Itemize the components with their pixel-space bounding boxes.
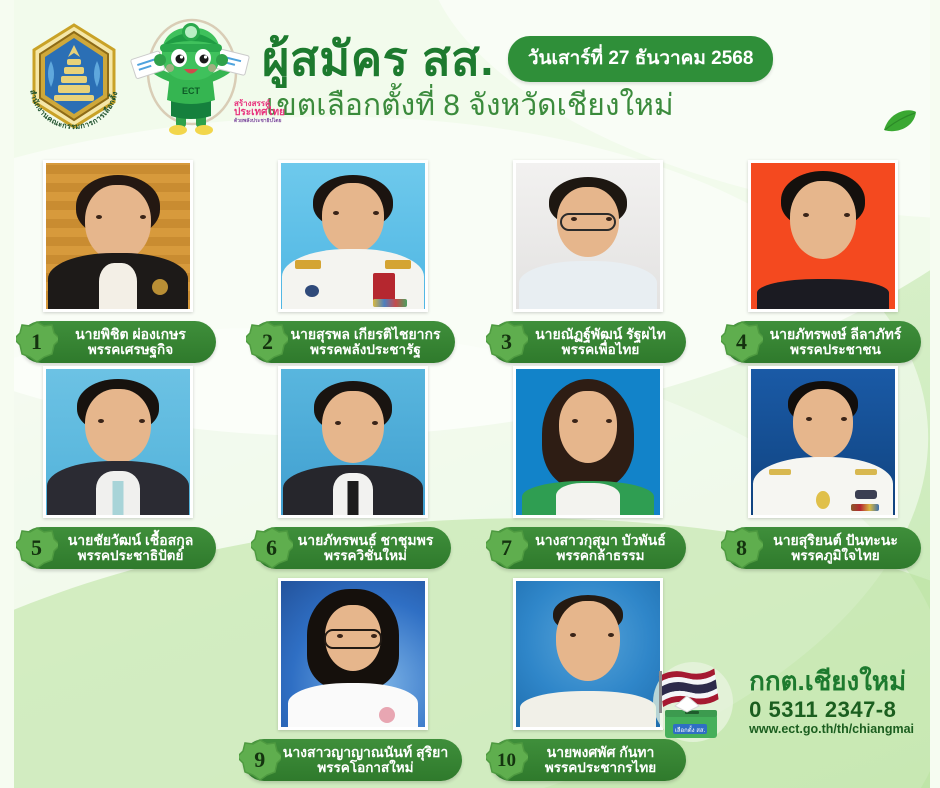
- candidate-photo: [751, 369, 895, 515]
- page-title: ผู้สมัคร สส.: [262, 33, 494, 85]
- candidate-name-pill[interactable]: 10 นายพงศพัศ กันทา พรรคประชากรไทย: [490, 739, 686, 781]
- candidate-party: พรรควิชั่นใหม่: [295, 548, 437, 563]
- candidate-name: นายภัทรพงษ์ ลีลาภัทร์: [765, 327, 907, 343]
- candidate-name: นายภัทรพนธ์ ชาชุมพร: [295, 533, 437, 549]
- candidate-party: พรรคประชากรไทย: [530, 760, 672, 775]
- candidate-number: 10: [497, 751, 516, 770]
- candidate-number: 7: [501, 537, 512, 559]
- candidate-name-lines: นางสาวกุสุมา บัวพันธ์ พรรคกล้าธรรม: [530, 533, 672, 564]
- candidate-party: พรรคกล้าธรรม: [530, 548, 672, 563]
- slogan-line-3: ด้วยพลังประชาธิปไตย: [234, 119, 306, 124]
- ect-mascot-icon: ECT: [126, 12, 254, 140]
- candidate-card[interactable]: 4 นายภัทรพงษ์ ลีลาภัทร์ พรรคประชาชน: [705, 160, 940, 363]
- candidate-number: 5: [31, 537, 42, 559]
- candidate-photo: [46, 369, 190, 515]
- candidate-number-badge: 9: [239, 739, 281, 781]
- candidate-name-pill[interactable]: 3 นายณัฏฐ์พัฒน์ รัฐผไท พรรคเพื่อไทย: [490, 321, 686, 363]
- candidate-number: 1: [31, 331, 42, 353]
- candidate-name: นางสาวญาญาณนันท์ สุริยา: [283, 745, 449, 761]
- candidate-photo: [516, 369, 660, 515]
- candidate-name-pill[interactable]: 5 นายชัยวัฒน์ เชื้อสกุล พรรคประชาธิปัตย์: [20, 527, 216, 569]
- candidate-number-badge: 7: [486, 527, 528, 569]
- candidate-name-lines: นายสุรพล เกียรติไชยากร พรรคพลังประชารัฐ: [290, 327, 440, 358]
- candidate-name-lines: นายชัยวัฒน์ เชื้อสกุล พรรคประชาธิปัตย์: [60, 533, 202, 564]
- candidate-photo-frame: [513, 366, 663, 518]
- candidate-photo-frame: [278, 366, 428, 518]
- leaf-icon: [882, 108, 918, 134]
- ect-emblem-icon: สำนักงานคณะกรรมการการเลือกตั้ง: [18, 17, 130, 135]
- candidate-number: 2: [262, 331, 273, 353]
- candidate-name-lines: นายพิชิต ผ่องเกษร พรรคเศรษฐกิจ: [60, 327, 202, 358]
- candidate-photo-frame: [513, 578, 663, 730]
- mascot-slogan: สร้างสรรค์ ประเทศไทย ด้วยพลังประชาธิปไตย: [234, 100, 306, 124]
- candidate-number-badge: 6: [251, 527, 293, 569]
- candidate-photo-frame: [748, 160, 898, 312]
- candidate-name-pill[interactable]: 4 นายภัทรพงษ์ ลีลาภัทร์ พรรคประชาชน: [725, 321, 921, 363]
- website-url[interactable]: www.ect.go.th/th/chiangmai: [749, 722, 914, 736]
- candidate-photo: [281, 369, 425, 515]
- candidate-party: พรรคประชาธิปัตย์: [60, 548, 202, 563]
- candidate-number-badge: 1: [16, 321, 58, 363]
- candidate-card[interactable]: 9 นางสาวญาญาณนันท์ สุริยา พรรคโอกาสใหม่: [235, 578, 470, 781]
- candidate-party: พรรคโอกาสใหม่: [283, 760, 449, 775]
- candidate-name-lines: นายพงศพัศ กันทา พรรคประชากรไทย: [530, 745, 672, 776]
- candidate-party: พรรคเพื่อไทย: [530, 342, 672, 357]
- organization-name: กกต.เชียงใหม่: [749, 667, 914, 697]
- candidate-card[interactable]: 1 นายพิชิต ผ่องเกษร พรรคเศรษฐกิจ: [0, 160, 235, 363]
- candidate-name-lines: นายภัทรพงษ์ ลีลาภัทร์ พรรคประชาชน: [765, 327, 907, 358]
- candidate-name: นายพิชิต ผ่องเกษร: [60, 327, 202, 343]
- candidate-card[interactable]: 6 นายภัทรพนธ์ ชาชุมพร พรรควิชั่นใหม่: [235, 366, 470, 569]
- candidate-number: 3: [501, 331, 512, 353]
- candidate-card[interactable]: 2 นายสุรพล เกียรติไชยากร พรรคพลังประชารั…: [235, 160, 470, 363]
- title-block: ผู้สมัคร สส. วันเสาร์ที่ 27 ธันวาคม 2568…: [262, 29, 773, 123]
- candidate-number-badge: 3: [486, 321, 528, 363]
- candidate-name-pill[interactable]: 7 นางสาวกุสุมา บัวพันธ์ พรรคกล้าธรรม: [490, 527, 686, 569]
- candidate-name: นายพงศพัศ กันทา: [530, 745, 672, 761]
- candidate-row-2: 5 นายชัยวัฒน์ เชื้อสกุล พรรคประชาธิปัตย์: [0, 366, 940, 569]
- candidate-card[interactable]: 5 นายชัยวัฒน์ เชื้อสกุล พรรคประชาธิปัตย์: [0, 366, 235, 569]
- candidate-number-badge: 10: [486, 739, 528, 781]
- candidate-row-1: 1 นายพิชิต ผ่องเกษร พรรคเศรษฐกิจ: [0, 160, 940, 363]
- candidate-photo-frame: [43, 366, 193, 518]
- thai-flag-ballot-box-icon: เลือกตั้ง สส.: [651, 660, 735, 744]
- candidate-number: 4: [736, 331, 747, 353]
- candidate-card[interactable]: 3 นายณัฏฐ์พัฒน์ รัฐผไท พรรคเพื่อไทย: [470, 160, 705, 363]
- candidate-number-badge: 8: [721, 527, 763, 569]
- candidate-party: พรรคพลังประชารัฐ: [290, 342, 440, 357]
- candidate-photo-frame: [278, 160, 428, 312]
- election-candidate-poster: สำนักงานคณะกรรมการการเลือกตั้ง ECT: [0, 0, 940, 788]
- candidate-name: นายสุริยนต์ ปันทะนะ: [765, 533, 907, 549]
- candidate-number-badge: 4: [721, 321, 763, 363]
- phone-number: 0 5311 2347-8: [749, 697, 914, 722]
- candidate-photo: [516, 163, 660, 309]
- candidate-name-pill[interactable]: 9 นางสาวญาญาณนันท์ สุริยา พรรคโอกาสใหม่: [243, 739, 463, 781]
- election-date-badge: วันเสาร์ที่ 27 ธันวาคม 2568: [508, 36, 774, 82]
- candidate-name: นายสุรพล เกียรติไชยากร: [290, 327, 440, 343]
- candidate-name: นางสาวกุสุมา บัวพันธ์: [530, 533, 672, 549]
- candidate-party: พรรคภูมิใจไทย: [765, 548, 907, 563]
- candidate-card[interactable]: 8 นายสุริยนต์ ปันทะนะ พรรคภูมิใจไทย: [705, 366, 940, 569]
- candidate-number-badge: 2: [246, 321, 288, 363]
- candidate-photo-frame: [43, 160, 193, 312]
- footer-contact-text: กกต.เชียงใหม่ 0 5311 2347-8 www.ect.go.t…: [749, 667, 914, 737]
- candidate-name-pill[interactable]: 2 นายสุรพล เกียรติไชยากร พรรคพลังประชารั…: [250, 321, 454, 363]
- candidate-party: พรรคเศรษฐกิจ: [60, 342, 202, 357]
- candidate-number: 6: [266, 537, 277, 559]
- candidate-name: นายชัยวัฒน์ เชื้อสกุล: [60, 533, 202, 549]
- candidate-name-lines: นายณัฏฐ์พัฒน์ รัฐผไท พรรคเพื่อไทย: [530, 327, 672, 358]
- candidate-name-lines: นายภัทรพนธ์ ชาชุมพร พรรควิชั่นใหม่: [295, 533, 437, 564]
- candidate-number: 9: [254, 749, 265, 771]
- candidate-photo-frame: [748, 366, 898, 518]
- poster-footer: เลือกตั้ง สส. กกต.เชียงใหม่ 0 5311 2347-…: [651, 660, 914, 744]
- candidate-name-pill[interactable]: 1 นายพิชิต ผ่องเกษร พรรคเศรษฐกิจ: [20, 321, 216, 363]
- candidate-name: นายณัฏฐ์พัฒน์ รัฐผไท: [530, 327, 672, 343]
- candidate-number-badge: 5: [16, 527, 58, 569]
- candidate-photo-frame: [278, 578, 428, 730]
- candidate-card[interactable]: 7 นางสาวกุสุมา บัวพันธ์ พรรคกล้าธรรม: [470, 366, 705, 569]
- candidate-name-lines: นายสุริยนต์ ปันทะนะ พรรคภูมิใจไทย: [765, 533, 907, 564]
- candidate-photo: [46, 163, 190, 309]
- constituency-subtitle: เขตเลือกตั้งที่ 8 จังหวัดเชียงใหม่: [266, 89, 773, 124]
- candidate-name-pill[interactable]: 8 นายสุริยนต์ ปันทะนะ พรรคภูมิใจไทย: [725, 527, 921, 569]
- candidate-name-pill[interactable]: 6 นายภัทรพนธ์ ชาชุมพร พรรควิชั่นใหม่: [255, 527, 451, 569]
- candidate-photo: [281, 581, 425, 727]
- candidate-name-lines: นางสาวญาญาณนันท์ สุริยา พรรคโอกาสใหม่: [283, 745, 449, 776]
- title-row: ผู้สมัคร สส. วันเสาร์ที่ 27 ธันวาคม 2568: [262, 33, 773, 85]
- poster-header: สำนักงานคณะกรรมการการเลือกตั้ง ECT: [0, 0, 940, 152]
- candidate-party: พรรคประชาชน: [765, 342, 907, 357]
- candidate-photo: [751, 163, 895, 309]
- svg-text:ECT: ECT: [182, 86, 201, 96]
- candidate-photo-frame: [513, 160, 663, 312]
- candidate-number: 8: [736, 537, 747, 559]
- candidate-photo: [281, 163, 425, 309]
- candidate-photo: [516, 581, 660, 727]
